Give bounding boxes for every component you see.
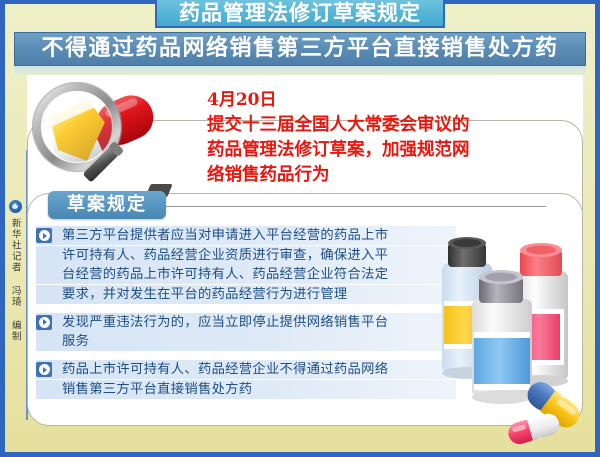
provision-line: 药品上市许可持有人、药品经营企业不得通过药品网络 (36, 360, 456, 379)
poster-title-top-text: 药品管理法修订草案规定 (179, 3, 421, 24)
list-item: 发现严重违法行为的，应当立即停止提供网络销售平台 服务 (36, 313, 456, 352)
credit-text: 新华社记者 冯琦 编制 (10, 218, 20, 342)
provision-line: 服务 (36, 332, 456, 351)
poster-title-sub-text: 不得通过药品网络销售第三方平台直接销售处方药 (41, 38, 558, 60)
list-item: 第三方平台提供者应当对申请进入平台经营的药品上市 许可持有人、药品经营企业资质进… (36, 226, 456, 304)
subtitle-underglow (14, 66, 586, 75)
provision-line: 第三方平台提供者应当对申请进入平台经营的药品上市 (36, 226, 456, 245)
poster-title-sub: 不得通过药品网络销售第三方平台直接销售处方药 (14, 32, 586, 66)
section-divider-line (166, 206, 546, 207)
play-circle-icon (36, 362, 52, 377)
capsule-icon (490, 375, 600, 450)
provision-line: 要求，并对发生在平台的药品经营行为进行管理 (36, 285, 456, 304)
play-circle-icon (36, 228, 52, 243)
magnifier-icon (28, 82, 188, 194)
provision-line: 销售第三方平台直接销售处方药 (36, 380, 456, 399)
provision-line: 台经营的药品上市许可持有人、药品经营企业符合法定 (36, 265, 456, 284)
highlight-date: 4月20日 (207, 88, 497, 113)
provision-line: 许可持有人、药品经营企业资质进行审查，确保进入平 (36, 246, 456, 265)
provisions-list: 第三方平台提供者应当对申请进入平台经营的药品上市 许可持有人、药品经营企业资质进… (36, 226, 456, 408)
xinhua-logo-icon (9, 200, 22, 213)
list-item: 药品上市许可持有人、药品经营企业不得通过药品网络 销售第三方平台直接销售处方药 (36, 360, 456, 399)
infographic-poster: 药品管理法修订草案规定 不得通过药品网络销售第三方平台直接销售处方药 (0, 0, 600, 457)
play-circle-icon (36, 315, 52, 330)
credit-strip: 新华社记者 冯琦 编制 (5, 200, 25, 410)
highlight-line-1: 提交十三届全国人大常委会审议的 (207, 113, 497, 138)
highlight-line-2: 药品管理法修订草案，加强规范网 (207, 138, 497, 163)
section-tag: 草案规定 (48, 191, 166, 219)
frame-border-bottom (0, 452, 600, 457)
section-tag-label: 草案规定 (67, 196, 147, 214)
highlight-text: 4月20日 提交十三届全国人大常委会审议的 药品管理法修订草案，加强规范网 络销… (207, 88, 497, 189)
poster-title-top: 药品管理法修订草案规定 (155, 0, 445, 28)
highlight-line-3: 络销售药品行为 (207, 163, 497, 188)
provision-line: 发现严重违法行为的，应当立即停止提供网络销售平台 (36, 313, 456, 332)
